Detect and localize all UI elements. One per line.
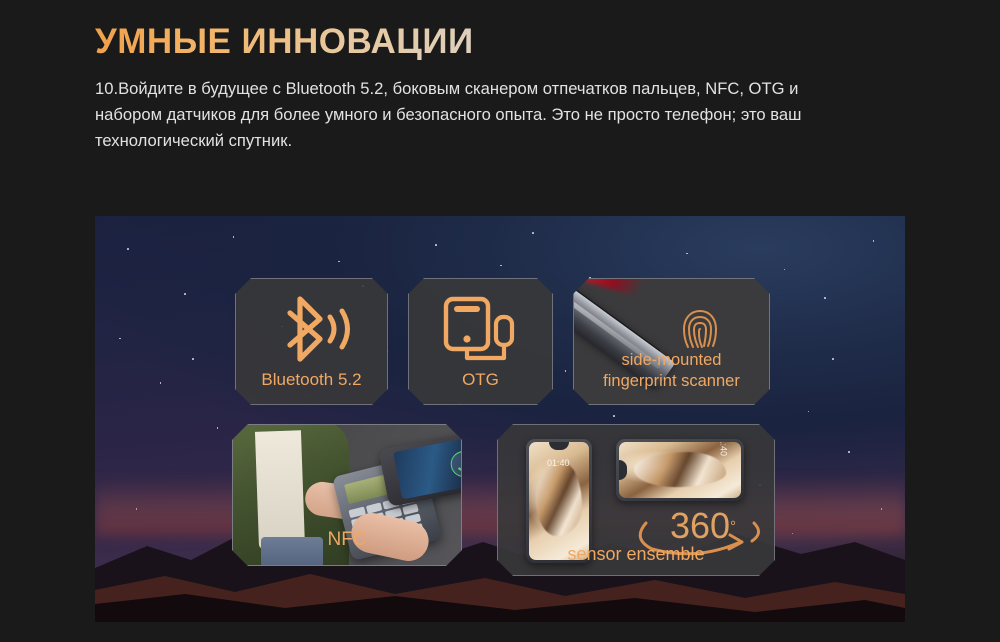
feature-card-bluetooth[interactable]: Bluetooth 5.2 (235, 278, 388, 405)
bluetooth-card-label: Bluetooth 5.2 (236, 370, 387, 390)
feature-card-otg[interactable]: OTG (408, 278, 553, 405)
phone-clock-portrait: 01:40 (547, 458, 570, 468)
feature-card-fingerprint[interactable]: side-mounted fingerprint scanner (573, 278, 770, 405)
page-description: 10.Войдите в будущее с Bluetooth 5.2, бо… (95, 76, 840, 154)
otg-icon (409, 295, 552, 365)
phone-landscape: 01:40 (616, 439, 744, 501)
feature-card-nfc[interactable]: NFC (232, 424, 462, 566)
page-root: УМНЫЕ ИННОВАЦИИ 10.Войдите в будущее с B… (0, 0, 1000, 642)
phone-clock-landscape: 01:40 (719, 442, 729, 456)
page-title: УМНЫЕ ИННОВАЦИИ (95, 22, 474, 62)
sensors-card-label: sensor ensemble (498, 544, 774, 565)
feature-card-sensors[interactable]: 01:40 01:40 360° sensor ensemble (497, 424, 775, 576)
otg-card-label: OTG (409, 370, 552, 390)
fingerprint-card-label-line2: fingerprint scanner (574, 372, 769, 391)
bluetooth-icon (236, 293, 387, 365)
feature-hero-image: Bluetooth 5.2 OTG (95, 216, 905, 622)
fingerprint-icon (678, 303, 722, 355)
fingerprint-card-label-line1: side-mounted (574, 351, 769, 370)
nfc-card-label: NFC (233, 529, 461, 551)
